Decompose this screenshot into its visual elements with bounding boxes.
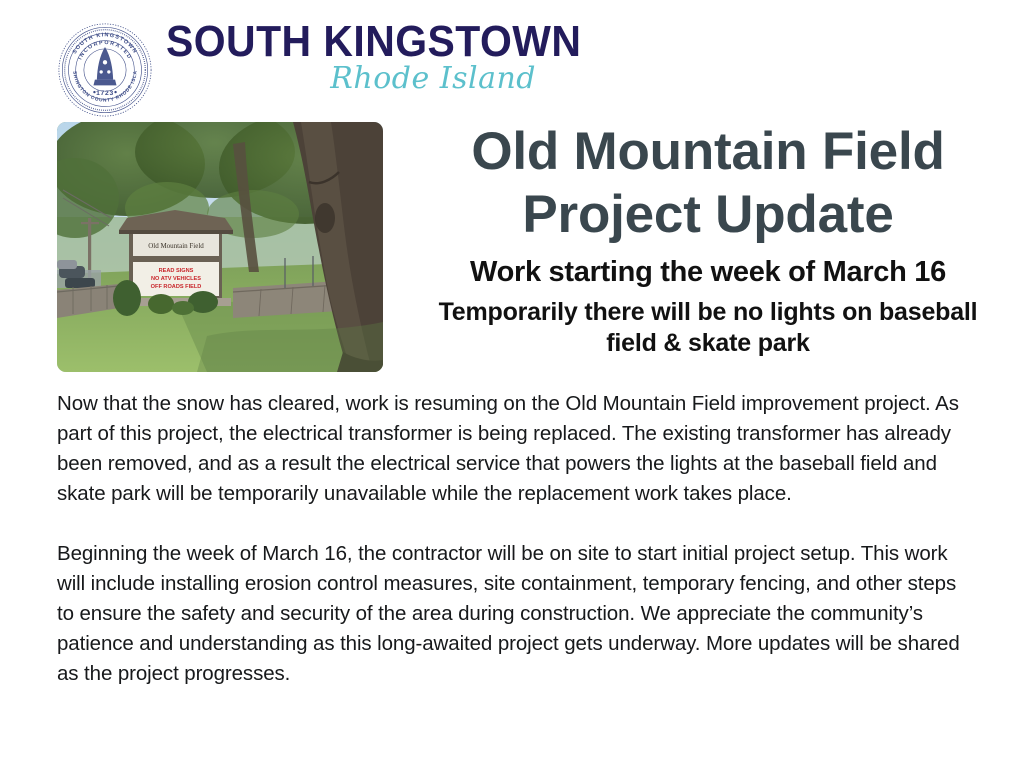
page-title-line-2: Project Update [404, 183, 1012, 246]
body-copy: Now that the snow has cleared, work is r… [57, 389, 972, 689]
title-block: Old Mountain Field Project Update Work s… [404, 120, 1012, 359]
subtitle-lights-notice: Temporarily there will be no lights on b… [404, 297, 1012, 359]
wordmark-town-name: SOUTH KINGSTOWN [166, 18, 557, 66]
svg-text:1723: 1723 [96, 90, 114, 97]
town-wordmark: SOUTH KINGSTOWN Rhode Island [166, 18, 586, 114]
old-mountain-field-photo: Old Mountain Field READ SIGNS NO ATV VEH… [57, 122, 383, 372]
svg-text:OFF ROADS FIELD: OFF ROADS FIELD [151, 284, 202, 290]
svg-text:NO ATV VEHICLES: NO ATV VEHICLES [151, 276, 201, 282]
town-seal-icon: SOUTH KINGSTOWN WASHINGTON COUNTY RHODE … [57, 22, 153, 118]
svg-text:Old Mountain Field: Old Mountain Field [148, 242, 204, 250]
wordmark-state-name: Rhode Island [330, 62, 536, 96]
announcement-page: SOUTH KINGSTOWN WASHINGTON COUNTY RHODE … [0, 0, 1024, 768]
paragraph-transformer-replacement: Now that the snow has cleared, work is r… [57, 389, 972, 509]
svg-text:READ SIGNS: READ SIGNS [159, 268, 194, 274]
paragraph-project-setup: Beginning the week of March 16, the cont… [57, 539, 972, 689]
subtitle-start-date: Work starting the week of March 16 [404, 255, 1012, 289]
page-header: SOUTH KINGSTOWN WASHINGTON COUNTY RHODE … [0, 0, 1024, 118]
page-title-line-1: Old Mountain Field [404, 120, 1012, 183]
